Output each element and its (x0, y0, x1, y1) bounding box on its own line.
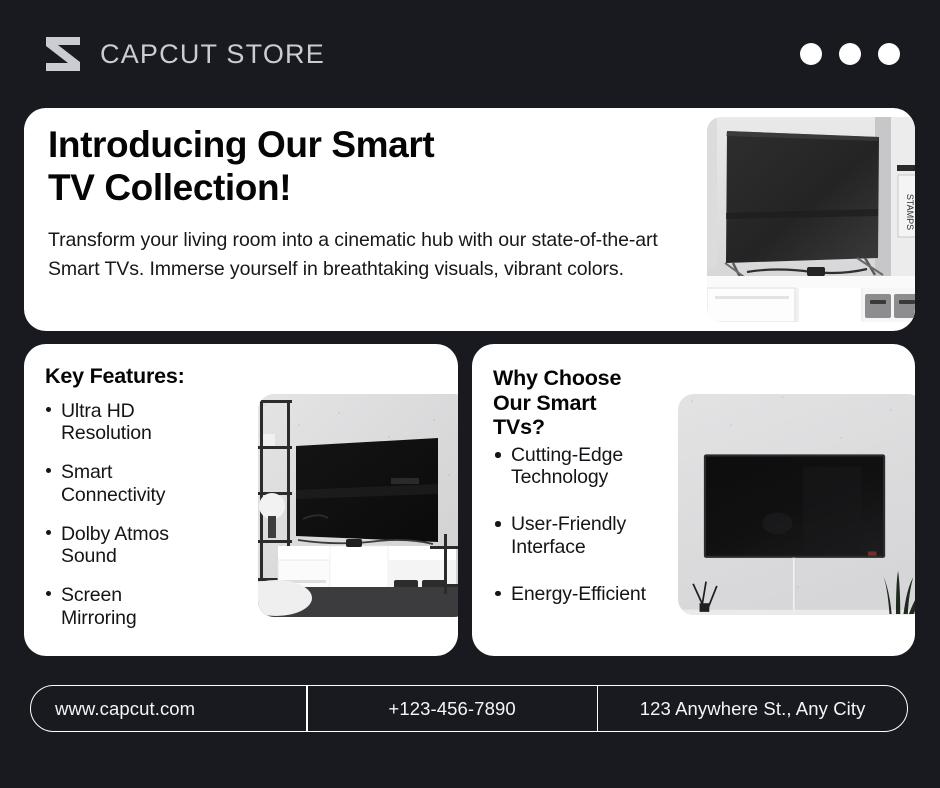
header: CAPCUT STORE (0, 0, 940, 108)
living-room-tv-photo (258, 394, 458, 617)
hero-title: Introducing Our Smart TV Collection! (48, 124, 678, 210)
poster-root: CAPCUT STORE Introducing Our Smart TV Co… (0, 0, 940, 788)
why-choose-heading: Why Choose Our Smart TVs? (493, 366, 621, 440)
why-choose-card: Why Choose Our Smart TVs? Cutting-Edge T… (472, 344, 915, 656)
dot-3-icon (878, 43, 900, 65)
footer-phone[interactable]: +123-456-7890 (308, 686, 597, 731)
list-item: Screen Mirroring (44, 584, 219, 628)
capcut-logo-icon (42, 34, 84, 74)
dot-1-icon (800, 43, 822, 65)
list-item: Cutting-Edge Technology (492, 444, 672, 488)
brand: CAPCUT STORE (42, 34, 325, 74)
svg-text:STAMPS: STAMPS (905, 194, 915, 230)
hero-card: Introducing Our Smart TV Collection! Tra… (24, 108, 915, 331)
tv-console-photo: STAMPS (707, 117, 915, 322)
hero-image: STAMPS (707, 117, 915, 322)
list-item: Smart Connectivity (44, 461, 219, 505)
why-choose-list: Cutting-Edge Technology User-Friendly In… (492, 444, 672, 630)
wall-mounted-tv-photo (678, 394, 915, 615)
brand-name: CAPCUT STORE (100, 39, 325, 70)
list-item: User-Friendly Interface (492, 513, 672, 557)
list-item: Dolby Atmos Sound (44, 523, 219, 567)
header-dots (800, 43, 900, 65)
key-features-image (258, 394, 458, 617)
dot-2-icon (839, 43, 861, 65)
list-item: Ultra HD Resolution (44, 400, 219, 444)
key-features-list: Ultra HD Resolution Smart Connectivity D… (44, 400, 219, 646)
why-choose-image (678, 394, 915, 615)
hero-body: Transform your living room into a cinema… (48, 226, 678, 285)
footer-website[interactable]: www.capcut.com (31, 686, 306, 731)
footer-bar: www.capcut.com +123-456-7890 123 Anywher… (30, 685, 908, 732)
hero-text-block: Introducing Our Smart TV Collection! Tra… (48, 124, 678, 285)
footer-address: 123 Anywhere St., Any City (598, 686, 907, 731)
key-features-card: Key Features: Ultra HD Resolution Smart … (24, 344, 458, 656)
list-item: Energy-Efficient (492, 583, 672, 605)
key-features-heading: Key Features: (45, 364, 185, 390)
